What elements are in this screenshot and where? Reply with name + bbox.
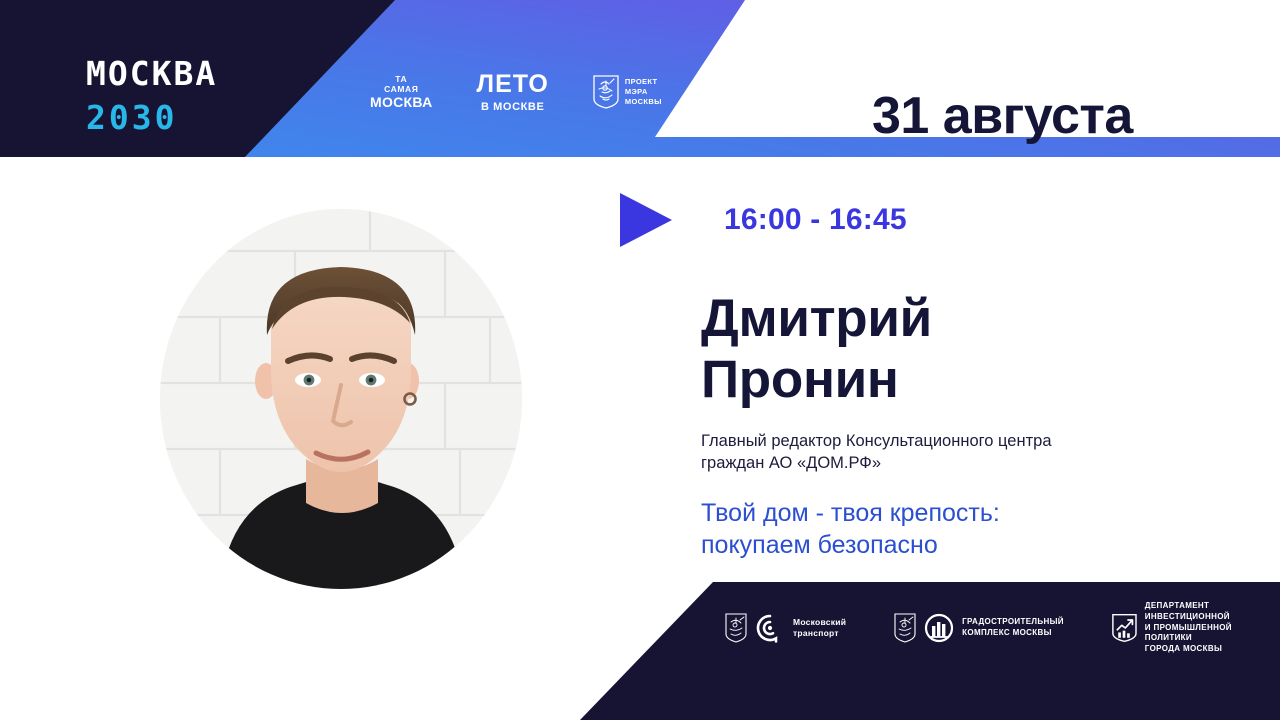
departament-line1: ДЕПАРТАМЕНТ ИНВЕСТИЦИОННОЙ [1145, 601, 1280, 623]
speaker-name: Дмитрий Пронин [701, 288, 932, 410]
departament-line2: И ПРОМЫШЛЕННОЙ ПОЛИТИКИ [1145, 623, 1280, 645]
moscow-2030-logo[interactable]: МОСКВА 2030 [86, 55, 226, 150]
ta-samaya-line3: МОСКВА [370, 94, 433, 111]
moscow-coat-of-arms-icon [725, 613, 747, 643]
moscow-2030-logo-line1: МОСКВА [86, 55, 226, 93]
partner-logo-ta-samaya-moskva[interactable]: ТА САМАЯ МОСКВА [370, 74, 433, 111]
proekt-line3: МОСКВЫ [625, 97, 662, 107]
transport-line2: транспорт [793, 628, 846, 639]
footer-logo-gradostroitelnyy-kompleks[interactable]: ГРАДОСТРОИТЕЛЬНЫЙ КОМПЛЕКС МОСКВЫ [894, 613, 1064, 643]
transport-spiral-icon [755, 613, 785, 643]
speaker-role-line2: граждан АО «ДОМ.РФ» [701, 452, 1052, 474]
proekt-line1: ПРОЕКТ [625, 77, 662, 87]
leto-line2: В МОСКВЕ [477, 101, 549, 113]
event-date: 31 августа [872, 86, 1133, 146]
transport-line1: Московский [793, 617, 846, 628]
speaker-photo [160, 209, 522, 589]
play-triangle-icon[interactable] [620, 193, 672, 247]
partner-logo-proekt-mera-moskvy[interactable]: ПРОЕКТ МЭРА МОСКВЫ [593, 75, 662, 109]
speaker-name-line1: Дмитрий [701, 288, 932, 349]
partner-logo-leto-v-moskve[interactable]: ЛЕТО В МОСКВЕ [477, 71, 549, 113]
speaker-role: Главный редактор Консультационного центр… [701, 430, 1052, 474]
talk-title-line2: покупаем безопасно [701, 529, 1000, 561]
footer-logo-moskovskiy-transport[interactable]: Московский транспорт [725, 613, 846, 643]
footer-logo-departament-investicionnoy-politiki[interactable]: ДЕПАРТАМЕНТ ИНВЕСТИЦИОННОЙ И ПРОМЫШЛЕННО… [1112, 601, 1280, 655]
investment-shield-icon [1112, 612, 1137, 644]
event-announcement-slide: МОСКВА 2030 ТА САМАЯ МОСКВА ЛЕТО В МОСКВ… [0, 0, 1280, 720]
gradostroitelnyy-line1: ГРАДОСТРОИТЕЛЬНЫЙ [962, 617, 1064, 628]
footer-partner-logos: Московский транспорт [725, 601, 1280, 655]
moscow-2030-logo-line2: 2030 [86, 99, 226, 137]
speaker-portrait-icon [160, 209, 522, 589]
construction-circle-icon [924, 613, 954, 643]
leto-line1: ЛЕТО [477, 71, 549, 99]
speaker-name-line2: Пронин [701, 349, 932, 410]
moscow-coat-of-arms-icon [894, 613, 916, 643]
ta-samaya-line1: ТА [370, 74, 433, 84]
session-time-row: 16:00 - 16:45 [620, 193, 907, 247]
gradostroitelnyy-line2: КОМПЛЕКС МОСКВЫ [962, 628, 1064, 639]
departament-line3: ГОРОДА МОСКВЫ [1145, 644, 1280, 655]
speaker-role-line1: Главный редактор Консультационного центр… [701, 430, 1052, 452]
ta-samaya-line2: САМАЯ [370, 84, 433, 94]
moscow-coat-of-arms-icon [593, 75, 619, 109]
proekt-line2: МЭРА [625, 87, 662, 97]
header-partner-logos: ТА САМАЯ МОСКВА ЛЕТО В МОСКВЕ [370, 62, 662, 122]
talk-title: Твой дом - твоя крепость: покупаем безоп… [701, 497, 1000, 561]
session-time: 16:00 - 16:45 [724, 203, 907, 237]
talk-title-line1: Твой дом - твоя крепость: [701, 497, 1000, 529]
